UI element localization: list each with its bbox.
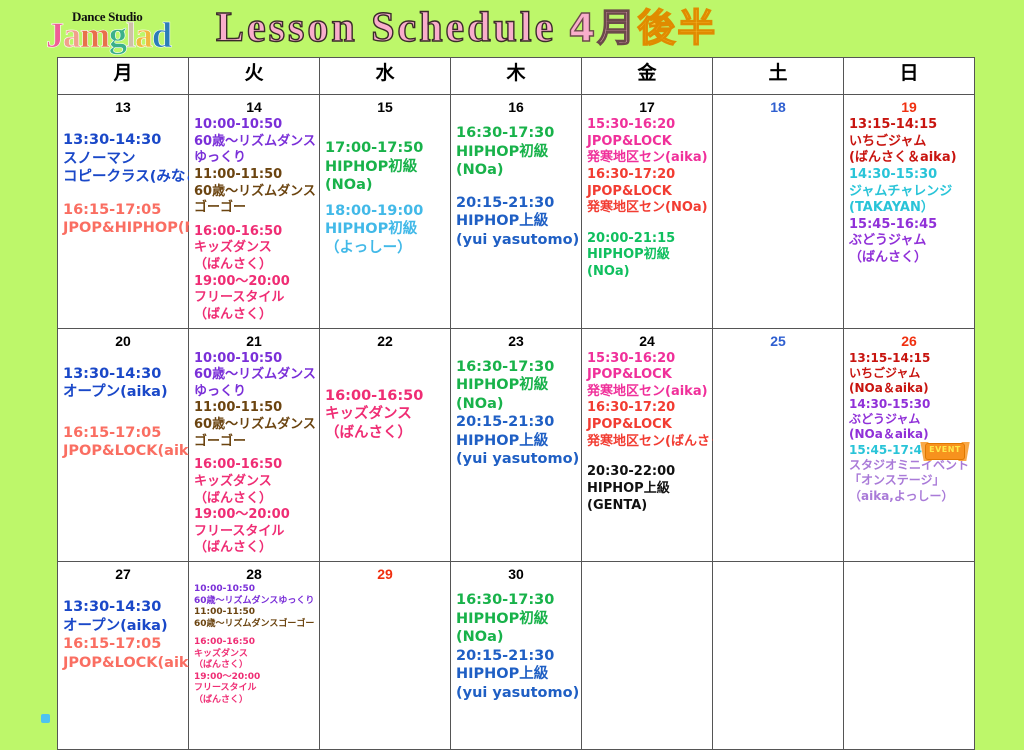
day-cell-empty[interactable]: [844, 562, 975, 750]
lesson-line: （ばんさく）: [194, 491, 316, 508]
lesson-line: （ばんさく）: [325, 424, 447, 443]
lesson-line: HIPHOP上級: [456, 432, 578, 451]
lesson-line: キッズダンス: [194, 474, 316, 491]
lesson-line: (NOa＆aika): [849, 381, 971, 396]
lesson-line: 60歳〜リズムダンス: [194, 134, 316, 151]
lesson-line: 16:30-17:20: [587, 400, 709, 417]
day-events: [713, 115, 843, 121]
day-events: 10:00-10:5060歳〜リズムダンスゆっくり11:00-11:5060歳〜…: [189, 115, 319, 328]
lesson-line: (NOa): [456, 395, 578, 414]
lesson-entry[interactable]: 13:15-14:15 いちごジャム(ばんさく＆aika): [849, 117, 971, 167]
spacer: [63, 402, 185, 424]
day-events: 15:30-16:20 JPOP&LOCK発寒地区セン(aika)16:30-1…: [582, 349, 712, 519]
spacer: [587, 450, 709, 464]
lesson-line: HIPHOP初級: [325, 158, 447, 177]
lesson-line: 20:30-22:00: [587, 464, 709, 481]
spacer: [325, 351, 447, 373]
lesson-entry[interactable]: 14:30-15:30ジャムチャレンジ(TAKAYAN）: [849, 167, 971, 217]
day-events: 16:30-17:30 HIPHOP初級 (NOa)20:15-21:30HIP…: [451, 582, 581, 706]
lesson-entry[interactable]: 16:30-17:30HIPHOP初級 (NOa): [456, 124, 578, 180]
spacer: [456, 117, 578, 124]
day-events: 16:00-16:50キッズダンス （ばんさく）: [320, 349, 450, 447]
lesson-line: ゆっくり: [194, 150, 316, 167]
lesson-line: 20:00-21:15: [587, 231, 709, 248]
spacer: [194, 217, 316, 224]
spacer: [325, 195, 447, 202]
day-number: 16: [451, 95, 581, 115]
lesson-entry[interactable]: 16:00-16:50キッズダンス （ばんさく） 19:00〜20:00フリース…: [194, 224, 316, 324]
lesson-line: オープン(aika): [63, 617, 185, 636]
day-cell-30[interactable]: 3016:30-17:30 HIPHOP初級 (NOa)20:15-21:30H…: [451, 562, 582, 750]
lesson-line: 16:15-17:05: [63, 424, 185, 443]
lesson-line: ゆっくり: [194, 384, 316, 401]
day-events: 13:30-14:30 スノーマンコピークラス(みなこ)16:15-17:05J…: [58, 115, 188, 242]
lesson-entry[interactable]: 11:00-11:5060歳〜リズムダンスゴーゴー: [194, 167, 316, 217]
day-number: 17: [582, 95, 712, 115]
lesson-line: (NOa): [587, 264, 709, 281]
title-english: Lesson Schedule: [216, 5, 556, 51]
lesson-line: 14:30-15:30: [849, 167, 971, 184]
lesson-line: ジャムチャレンジ: [849, 184, 971, 201]
weekday-header-row: 月火水木金土日: [58, 58, 975, 95]
lesson-entry[interactable]: 13:30-14:30 オープン(aika): [63, 598, 185, 635]
lesson-line: ゴーゴー: [194, 200, 316, 217]
day-cell-19[interactable]: 1913:15-14:15 いちごジャム(ばんさく＆aika)14:30-15:…: [844, 95, 975, 329]
lesson-line: ぶどうジャム: [849, 412, 971, 427]
lesson-line: （よっしー）: [325, 239, 447, 258]
lesson-line: 20:15-21:30: [456, 413, 578, 432]
studio-logo: Dance Studio Jamglad: [46, 9, 198, 55]
lesson-line: 10:00-10:50: [194, 584, 316, 596]
lesson-entry[interactable]: 14:30-15:30 ぶどうジャム(NOa＆aika): [849, 397, 971, 443]
lesson-line: 16:30-17:20: [587, 167, 709, 184]
lesson-entry[interactable]: 11:00-11:5060歳〜リズムダンスゴーゴー: [194, 607, 316, 630]
lesson-line: いちごジャム: [849, 134, 971, 151]
spacer: [194, 630, 316, 637]
day-cell-18[interactable]: 18: [713, 95, 844, 329]
day-cell-24[interactable]: 2415:30-16:20 JPOP&LOCK発寒地区セン(aika)16:30…: [582, 328, 713, 562]
day-cell-15[interactable]: 1517:00-17:50HIPHOP初級 (NOa)18:00-19:00HI…: [320, 95, 451, 329]
day-number: 21: [189, 329, 319, 349]
lesson-line: HIPHOP初級: [456, 376, 578, 395]
day-events: 13:15-14:15いちごジャム(NOa＆aika)14:30-15:30 ぶ…: [844, 349, 974, 509]
lesson-entry[interactable]: 18:00-19:00HIPHOP初級 （よっしー）: [325, 202, 447, 258]
lesson-line: JPOP&LOCK(aika): [63, 442, 185, 461]
day-cell-26[interactable]: 2613:15-14:15いちごジャム(NOa＆aika)14:30-15:30…: [844, 328, 975, 562]
lesson-line: 14:30-15:30: [849, 397, 971, 412]
lesson-line: JPOP&LOCK: [587, 417, 709, 434]
week-row: 1313:30-14:30 スノーマンコピークラス(みなこ)16:15-17:0…: [58, 95, 975, 329]
lesson-line: JPOP&HIPHOP(NOa): [63, 219, 185, 238]
lesson-line: JPOP&LOCK: [587, 184, 709, 201]
spacer: [325, 373, 447, 387]
lesson-line: 60歳〜リズムダンスゆっくり: [194, 596, 316, 608]
day-number: 30: [451, 562, 581, 582]
day-cell-23[interactable]: 2316:30-17:30HIPHOP初級 (NOa)20:15-21:30HI…: [451, 328, 582, 562]
spacer: [63, 351, 185, 365]
badge-label: EVENT: [922, 445, 968, 454]
lesson-line: 16:15-17:05: [63, 201, 185, 220]
lesson-line: 16:30-17:30: [456, 124, 578, 143]
weekday-header-weekday-3: 木: [451, 58, 582, 95]
spacer: [325, 117, 447, 139]
lesson-entry[interactable]: 16:00-16:50キッズダンス （ばんさく） 19:00〜20:00フリース…: [194, 457, 316, 557]
lesson-schedule-table: 月火水木金土日 1313:30-14:30 スノーマンコピークラス(みなこ)16…: [57, 57, 975, 750]
day-events: 16:30-17:30HIPHOP初級 (NOa)20:15-21:30HIPH…: [451, 349, 581, 473]
lesson-line: 15:45-16:45: [849, 217, 971, 234]
day-number: 28: [189, 562, 319, 582]
lesson-entry[interactable]: 15:45-16:45ぶどうジャム（ばんさく）: [849, 217, 971, 267]
lesson-line: (yui yasutomo): [456, 450, 578, 469]
lesson-entry[interactable]: 16:00-16:50キッズダンス （ばんさく） 19:00〜20:00フリース…: [194, 637, 316, 706]
day-events: [320, 582, 450, 588]
lesson-entry[interactable]: 13:15-14:15いちごジャム(NOa＆aika): [849, 351, 971, 397]
spacer: [63, 117, 185, 131]
lesson-entry[interactable]: 10:00-10:5060歳〜リズムダンスゆっくり: [194, 584, 316, 607]
spacer: [587, 217, 709, 231]
lesson-line: スノーマン: [63, 150, 185, 169]
lesson-entry[interactable]: 16:30-17:30 HIPHOP初級 (NOa): [456, 591, 578, 647]
lesson-line: キッズダンス: [194, 240, 316, 257]
corner-marker-icon: [41, 714, 50, 723]
lesson-line: HIPHOP初級: [456, 143, 578, 162]
lesson-line: フリースタイル: [194, 290, 316, 307]
lesson-line: 13:15-14:15: [849, 117, 971, 134]
page-header: Dance Studio Jamglad Lesson Schedule 4月後…: [0, 0, 1024, 58]
lesson-entry[interactable]: 16:30-17:20 JPOP&LOCK発寒地区セン(ばんさく): [587, 400, 709, 450]
spacer: [63, 584, 185, 598]
lesson-line: (yui yasutomo): [456, 684, 578, 703]
lesson-line: JPOP&LOCK(aika): [63, 654, 185, 673]
lesson-entry[interactable]: 10:00-10:5060歳〜リズムダンスゆっくり: [194, 117, 316, 167]
lesson-entry[interactable]: スタジオミニイベント「オンステージ」 （aika,よっしー）: [849, 458, 971, 504]
lesson-line: （ばんさく）: [194, 307, 316, 324]
lesson-line: 16:00-16:50: [194, 224, 316, 241]
lesson-line: 10:00-10:50: [194, 351, 316, 368]
lesson-line: HIPHOP初級: [587, 247, 709, 264]
lesson-line: 16:00-16:50: [194, 637, 316, 649]
lesson-entry[interactable]: 16:15-17:05JPOP&LOCK(aika): [63, 635, 185, 672]
day-events: 16:30-17:30HIPHOP初級 (NOa)20:15-21:30HIPH…: [451, 115, 581, 253]
lesson-line: ぶどうジャム: [849, 233, 971, 250]
day-cell-28[interactable]: 2810:00-10:5060歳〜リズムダンスゆっくり11:00-11:5060…: [189, 562, 320, 750]
day-cell-17[interactable]: 1715:30-16:20 JPOP&LOCK発寒地区セン(aika)16:30…: [582, 95, 713, 329]
day-events: 13:30-14:30 オープン(aika)16:15-17:05JPOP&LO…: [58, 349, 188, 465]
week-row: 2013:30-14:30 オープン(aika)16:15-17:05JPOP&…: [58, 328, 975, 562]
day-cell-14[interactable]: 1410:00-10:5060歳〜リズムダンスゆっくり11:00-11:5060…: [189, 95, 320, 329]
lesson-line: (GENTA): [587, 498, 709, 515]
day-number: 29: [320, 562, 450, 582]
lesson-entry[interactable]: 11:00-11:5060歳〜リズムダンスゴーゴー: [194, 400, 316, 450]
lesson-line: 15:30-16:20: [587, 117, 709, 134]
lesson-line: 16:30-17:30: [456, 591, 578, 610]
lesson-line: キッズダンス: [325, 405, 447, 424]
lesson-line: いちごジャム: [849, 366, 971, 381]
day-events: [713, 349, 843, 355]
lesson-line: 60歳〜リズムダンスゴーゴー: [194, 619, 316, 631]
day-cell-25[interactable]: 25: [713, 328, 844, 562]
lesson-line: JPOP&LOCK: [587, 134, 709, 151]
spacer: [456, 351, 578, 358]
lesson-line: 発寒地区セン(ばんさく): [587, 434, 709, 451]
lesson-line: (yui yasutomo): [456, 231, 578, 250]
lesson-line: 20:15-21:30: [456, 194, 578, 213]
lesson-line: (NOa): [456, 628, 578, 647]
title-half: 後半: [637, 6, 717, 50]
spacer: [63, 187, 185, 201]
lesson-line: 60歳〜リズムダンス: [194, 367, 316, 384]
logo-letter-1: a: [63, 17, 80, 53]
day-number: 24: [582, 329, 712, 349]
lesson-line: HIPHOP上級: [456, 212, 578, 231]
lesson-line: （ばんさく）: [194, 695, 316, 707]
day-number: 22: [320, 329, 450, 349]
logo-letter-3: g: [109, 17, 126, 53]
lesson-line: オープン(aika): [63, 383, 185, 402]
day-cell-29[interactable]: 29: [320, 562, 451, 750]
day-number: 15: [320, 95, 450, 115]
lesson-entry[interactable]: 16:00-16:50キッズダンス （ばんさく）: [325, 387, 447, 443]
lesson-entry[interactable]: 13:30-14:30 スノーマンコピークラス(みなこ): [63, 131, 185, 187]
lesson-line: 18:00-19:00: [325, 202, 447, 221]
lesson-line: 19:00〜20:00: [194, 672, 316, 684]
lesson-line: (ばんさく＆aika): [849, 150, 971, 167]
day-cell-21[interactable]: 2110:00-10:5060歳〜リズムダンスゆっくり11:00-11:5060…: [189, 328, 320, 562]
day-cell-27[interactable]: 2713:30-14:30 オープン(aika)16:15-17:05JPOP&…: [58, 562, 189, 750]
spacer: [456, 584, 578, 591]
lesson-line: 発寒地区セン(NOa): [587, 200, 709, 217]
lesson-line: (TAKAYAN）: [849, 200, 971, 217]
week-row: 2713:30-14:30 オープン(aika)16:15-17:05JPOP&…: [58, 562, 975, 750]
lesson-entry[interactable]: 15:30-16:20 JPOP&LOCK発寒地区セン(aika): [587, 351, 709, 401]
lesson-line: 13:15-14:15: [849, 351, 971, 366]
title-month: 4月: [569, 6, 637, 50]
day-events: [713, 566, 843, 572]
day-cell-empty[interactable]: [582, 562, 713, 750]
lesson-line: HIPHOP上級: [587, 481, 709, 498]
day-number: 25: [713, 329, 843, 349]
day-number: 18: [713, 95, 843, 115]
lesson-line: 発寒地区セン(aika): [587, 150, 709, 167]
day-number: 26: [844, 329, 974, 349]
day-number: 19: [844, 95, 974, 115]
day-number: 27: [58, 562, 188, 582]
lesson-line: 60歳〜リズムダンス: [194, 417, 316, 434]
lesson-line: （ばんさく）: [194, 540, 316, 557]
lesson-line: 17:00-17:50: [325, 139, 447, 158]
lesson-entry[interactable]: 20:15-21:30HIPHOP上級(yui yasutomo): [456, 413, 578, 469]
day-cell-empty[interactable]: [713, 562, 844, 750]
lesson-entry[interactable]: 20:00-21:15 HIPHOP初級 (NOa): [587, 231, 709, 281]
weekday-header-weekday-4: 金: [582, 58, 713, 95]
day-number: 20: [58, 329, 188, 349]
lesson-entry[interactable]: 17:00-17:50HIPHOP初級 (NOa): [325, 139, 447, 195]
lesson-line: 10:00-10:50: [194, 117, 316, 134]
lesson-line: 19:00〜20:00: [194, 507, 316, 524]
lesson-line: HIPHOP上級: [456, 665, 578, 684]
logo-letter-4: l: [126, 17, 135, 53]
weekday-header-weekday-2: 水: [320, 58, 451, 95]
lesson-line: 20:15-21:30: [456, 647, 578, 666]
day-events: 17:00-17:50HIPHOP初級 (NOa)18:00-19:00HIPH…: [320, 115, 450, 261]
lesson-line: フリースタイル: [194, 683, 316, 695]
lesson-line: 13:30-14:30: [63, 598, 185, 617]
day-events: 10:00-10:5060歳〜リズムダンスゆっくり11:00-11:5060歳〜…: [189, 582, 319, 710]
day-events: [582, 566, 712, 572]
lesson-line: (NOa): [325, 176, 447, 195]
lesson-line: 11:00-11:50: [194, 607, 316, 619]
day-number: 13: [58, 95, 188, 115]
lesson-line: JPOP&LOCK: [587, 367, 709, 384]
lesson-line: 13:30-14:30: [63, 365, 185, 384]
day-events: 13:15-14:15 いちごジャム(ばんさく＆aika)14:30-15:30…: [844, 115, 974, 271]
event-badge-icon: EVENT: [922, 441, 968, 463]
lesson-line: HIPHOP初級: [456, 610, 578, 629]
logo-letter-6: d: [152, 17, 171, 53]
lesson-line: フリースタイル: [194, 524, 316, 541]
lesson-line: （ばんさく）: [849, 250, 971, 267]
lesson-line: （aika,よっしー）: [849, 489, 971, 504]
lesson-line: 16:00-16:50: [194, 457, 316, 474]
lesson-line: 16:15-17:05: [63, 635, 185, 654]
lesson-line: コピークラス(みなこ): [63, 168, 185, 187]
lesson-line: （ばんさく）: [194, 660, 316, 672]
lesson-line: （ばんさく）: [194, 257, 316, 274]
lesson-line: 16:30-17:30: [456, 358, 578, 377]
weekday-header-weekday-1: 火: [189, 58, 320, 95]
day-cell-22[interactable]: 2216:00-16:50キッズダンス （ばんさく）: [320, 328, 451, 562]
lesson-line: キッズダンス: [194, 649, 316, 661]
logo-letter-0: J: [46, 17, 63, 53]
lesson-entry[interactable]: 10:00-10:5060歳〜リズムダンスゆっくり: [194, 351, 316, 401]
lesson-line: 11:00-11:50: [194, 167, 316, 184]
lesson-line: (NOa): [456, 161, 578, 180]
day-events: 10:00-10:5060歳〜リズムダンスゆっくり11:00-11:5060歳〜…: [189, 349, 319, 562]
day-events: 15:30-16:20 JPOP&LOCK発寒地区セン(aika)16:30-1…: [582, 115, 712, 285]
lesson-line: 13:30-14:30: [63, 131, 185, 150]
lesson-line: ゴーゴー: [194, 434, 316, 451]
day-number: 23: [451, 329, 581, 349]
lesson-line: 11:00-11:50: [194, 400, 316, 417]
weekday-header-weekday-0: 月: [58, 58, 189, 95]
lesson-line: 60歳〜リズムダンス: [194, 184, 316, 201]
lesson-entry[interactable]: 15:30-16:20 JPOP&LOCK発寒地区セン(aika): [587, 117, 709, 167]
day-cell-13[interactable]: 1313:30-14:30 スノーマンコピークラス(みなこ)16:15-17:0…: [58, 95, 189, 329]
spacer: [194, 450, 316, 457]
lesson-entry[interactable]: 20:15-21:30HIPHOP上級(yui yasutomo): [456, 647, 578, 703]
weekday-header-saturday-5: 土: [713, 58, 844, 95]
logo-letter-5: a: [135, 17, 152, 53]
day-events: 13:30-14:30 オープン(aika)16:15-17:05JPOP&LO…: [58, 582, 188, 676]
lesson-line: 16:00-16:50: [325, 387, 447, 406]
weekday-header-sunday-6: 日: [844, 58, 975, 95]
logo-letter-2: m: [80, 17, 109, 53]
spacer: [456, 180, 578, 194]
lesson-line: 19:00〜20:00: [194, 274, 316, 291]
lesson-line: 発寒地区セン(aika): [587, 384, 709, 401]
lesson-line: 「オンステージ」: [849, 473, 971, 488]
lesson-line: 15:30-16:20: [587, 351, 709, 368]
lesson-entry[interactable]: 20:15-21:30HIPHOP上級(yui yasutomo): [456, 194, 578, 250]
day-number: 14: [189, 95, 319, 115]
lesson-entry[interactable]: 16:30-17:30HIPHOP初級 (NOa): [456, 358, 578, 414]
lesson-entry[interactable]: 20:30-22:00 HIPHOP上級 (GENTA): [587, 464, 709, 514]
page-title: Lesson Schedule 4月後半: [216, 4, 717, 52]
lesson-entry[interactable]: 16:15-17:05JPOP&LOCK(aika): [63, 424, 185, 461]
lesson-entry[interactable]: 13:30-14:30 オープン(aika): [63, 365, 185, 402]
day-cell-16[interactable]: 1616:30-17:30HIPHOP初級 (NOa)20:15-21:30HI…: [451, 95, 582, 329]
lesson-entry[interactable]: 16:30-17:20 JPOP&LOCK発寒地区セン(NOa): [587, 167, 709, 217]
day-cell-20[interactable]: 2013:30-14:30 オープン(aika)16:15-17:05JPOP&…: [58, 328, 189, 562]
day-events: [844, 566, 974, 572]
logo-wordmark: Jamglad: [46, 17, 171, 53]
lesson-line: HIPHOP初級: [325, 220, 447, 239]
lesson-entry[interactable]: 16:15-17:05JPOP&HIPHOP(NOa): [63, 201, 185, 238]
